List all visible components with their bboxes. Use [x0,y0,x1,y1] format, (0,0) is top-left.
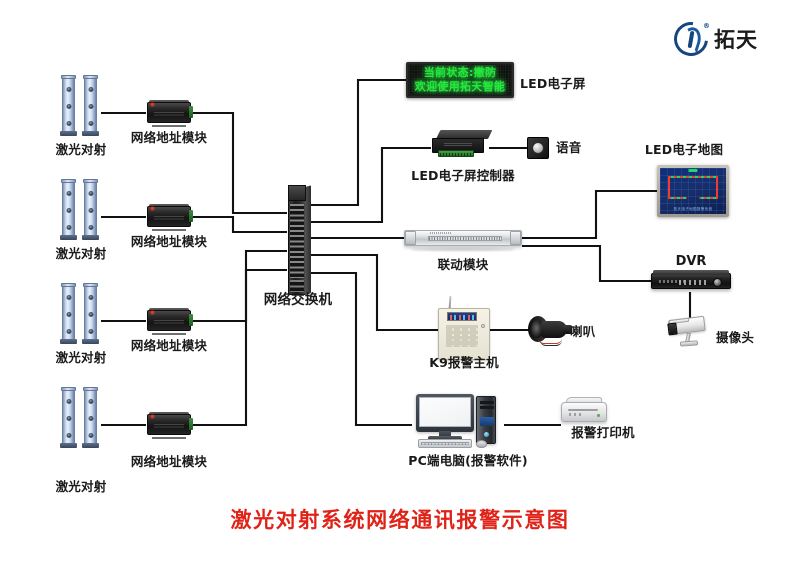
network-address-module-1 [147,100,191,125]
network-address-module-3-label: 网络地址模块 [103,339,235,353]
led-display-screen-label: LED电子屏 [520,77,620,91]
led-screen-line1: 当前状态:撤防 [424,66,497,80]
led-electronic-map: 拓天电子地图报警系统 [657,165,729,217]
dvr-recorder [651,270,731,292]
camera-label: 摄像头 [716,331,788,345]
laser-detector-4 [58,385,104,449]
network-address-module-2 [147,204,191,229]
laser-detector-1-label: 激光对射 [10,143,152,157]
network-address-module-1-label: 网络地址模块 [103,131,235,145]
wire-linkage-ledmap [522,191,657,238]
led-display-screen: 当前状态:撤防 欢迎使用拓天智能 [406,62,514,98]
laser-detector-3-label: 激光对射 [10,351,152,365]
led-screen-controller [432,130,490,160]
laser-detector-4-label: 激光对射 [10,480,152,494]
bullet-camera [664,316,716,350]
dvr-label: DVR [646,255,736,269]
k9-alarm-host [438,298,490,360]
registered-mark: ® [703,22,710,30]
laser-detector-3 [58,281,104,345]
brand-logo: ® 拓天 [674,22,758,56]
voice-label: 语音 [556,141,614,155]
tuotian-logo-icon: ® [674,22,708,56]
network-address-module-2-label: 网络地址模块 [103,235,235,249]
laser-detector-2-label: 激光对射 [10,247,152,261]
wire-switch-ledcontroller [300,148,431,222]
led-map-caption: 拓天电子地图报警系统 [660,207,726,212]
wire-linkage-dvr [522,246,651,281]
desktop-computer [416,394,508,450]
diagram-title: 激光对射系统网络通讯报警示意图 [0,504,800,534]
k9-alarm-host-label: K9报警主机 [404,356,524,370]
desktop-computer-label: PC端电脑(报警软件) [382,454,554,468]
laser-detector-2 [58,177,104,241]
voice-speaker-device [527,137,549,159]
laser-detector-1 [58,73,104,137]
diagram-canvas: ® 拓天 激光对射 激光对射 激光对射 激光对射 网络地址模块 网络地址模块 网… [0,0,800,579]
wire-switch-ledscreen [300,80,406,205]
led-screen-controller-label: LED电子屏控制器 [398,169,528,183]
wire-module1-switch [192,113,287,213]
led-map-label: LED电子地图 [630,143,738,157]
network-switch-label: 网络交换机 [236,293,360,308]
network-address-module-3 [147,308,191,333]
network-address-module-4-label: 网络地址模块 [103,455,235,469]
alarm-printer [561,396,607,426]
network-switch [282,185,312,295]
wire-module2-switch [192,217,287,232]
brand-name: 拓天 [714,24,758,54]
wire-module3-switch [192,251,287,321]
led-screen-line2: 欢迎使用拓天智能 [415,80,505,94]
linkage-module [404,228,522,250]
network-address-module-4 [147,412,191,437]
horn-label: 喇叭 [570,325,628,339]
linkage-module-label: 联动模块 [408,258,518,272]
alarm-printer-label: 报警打印机 [548,426,658,440]
